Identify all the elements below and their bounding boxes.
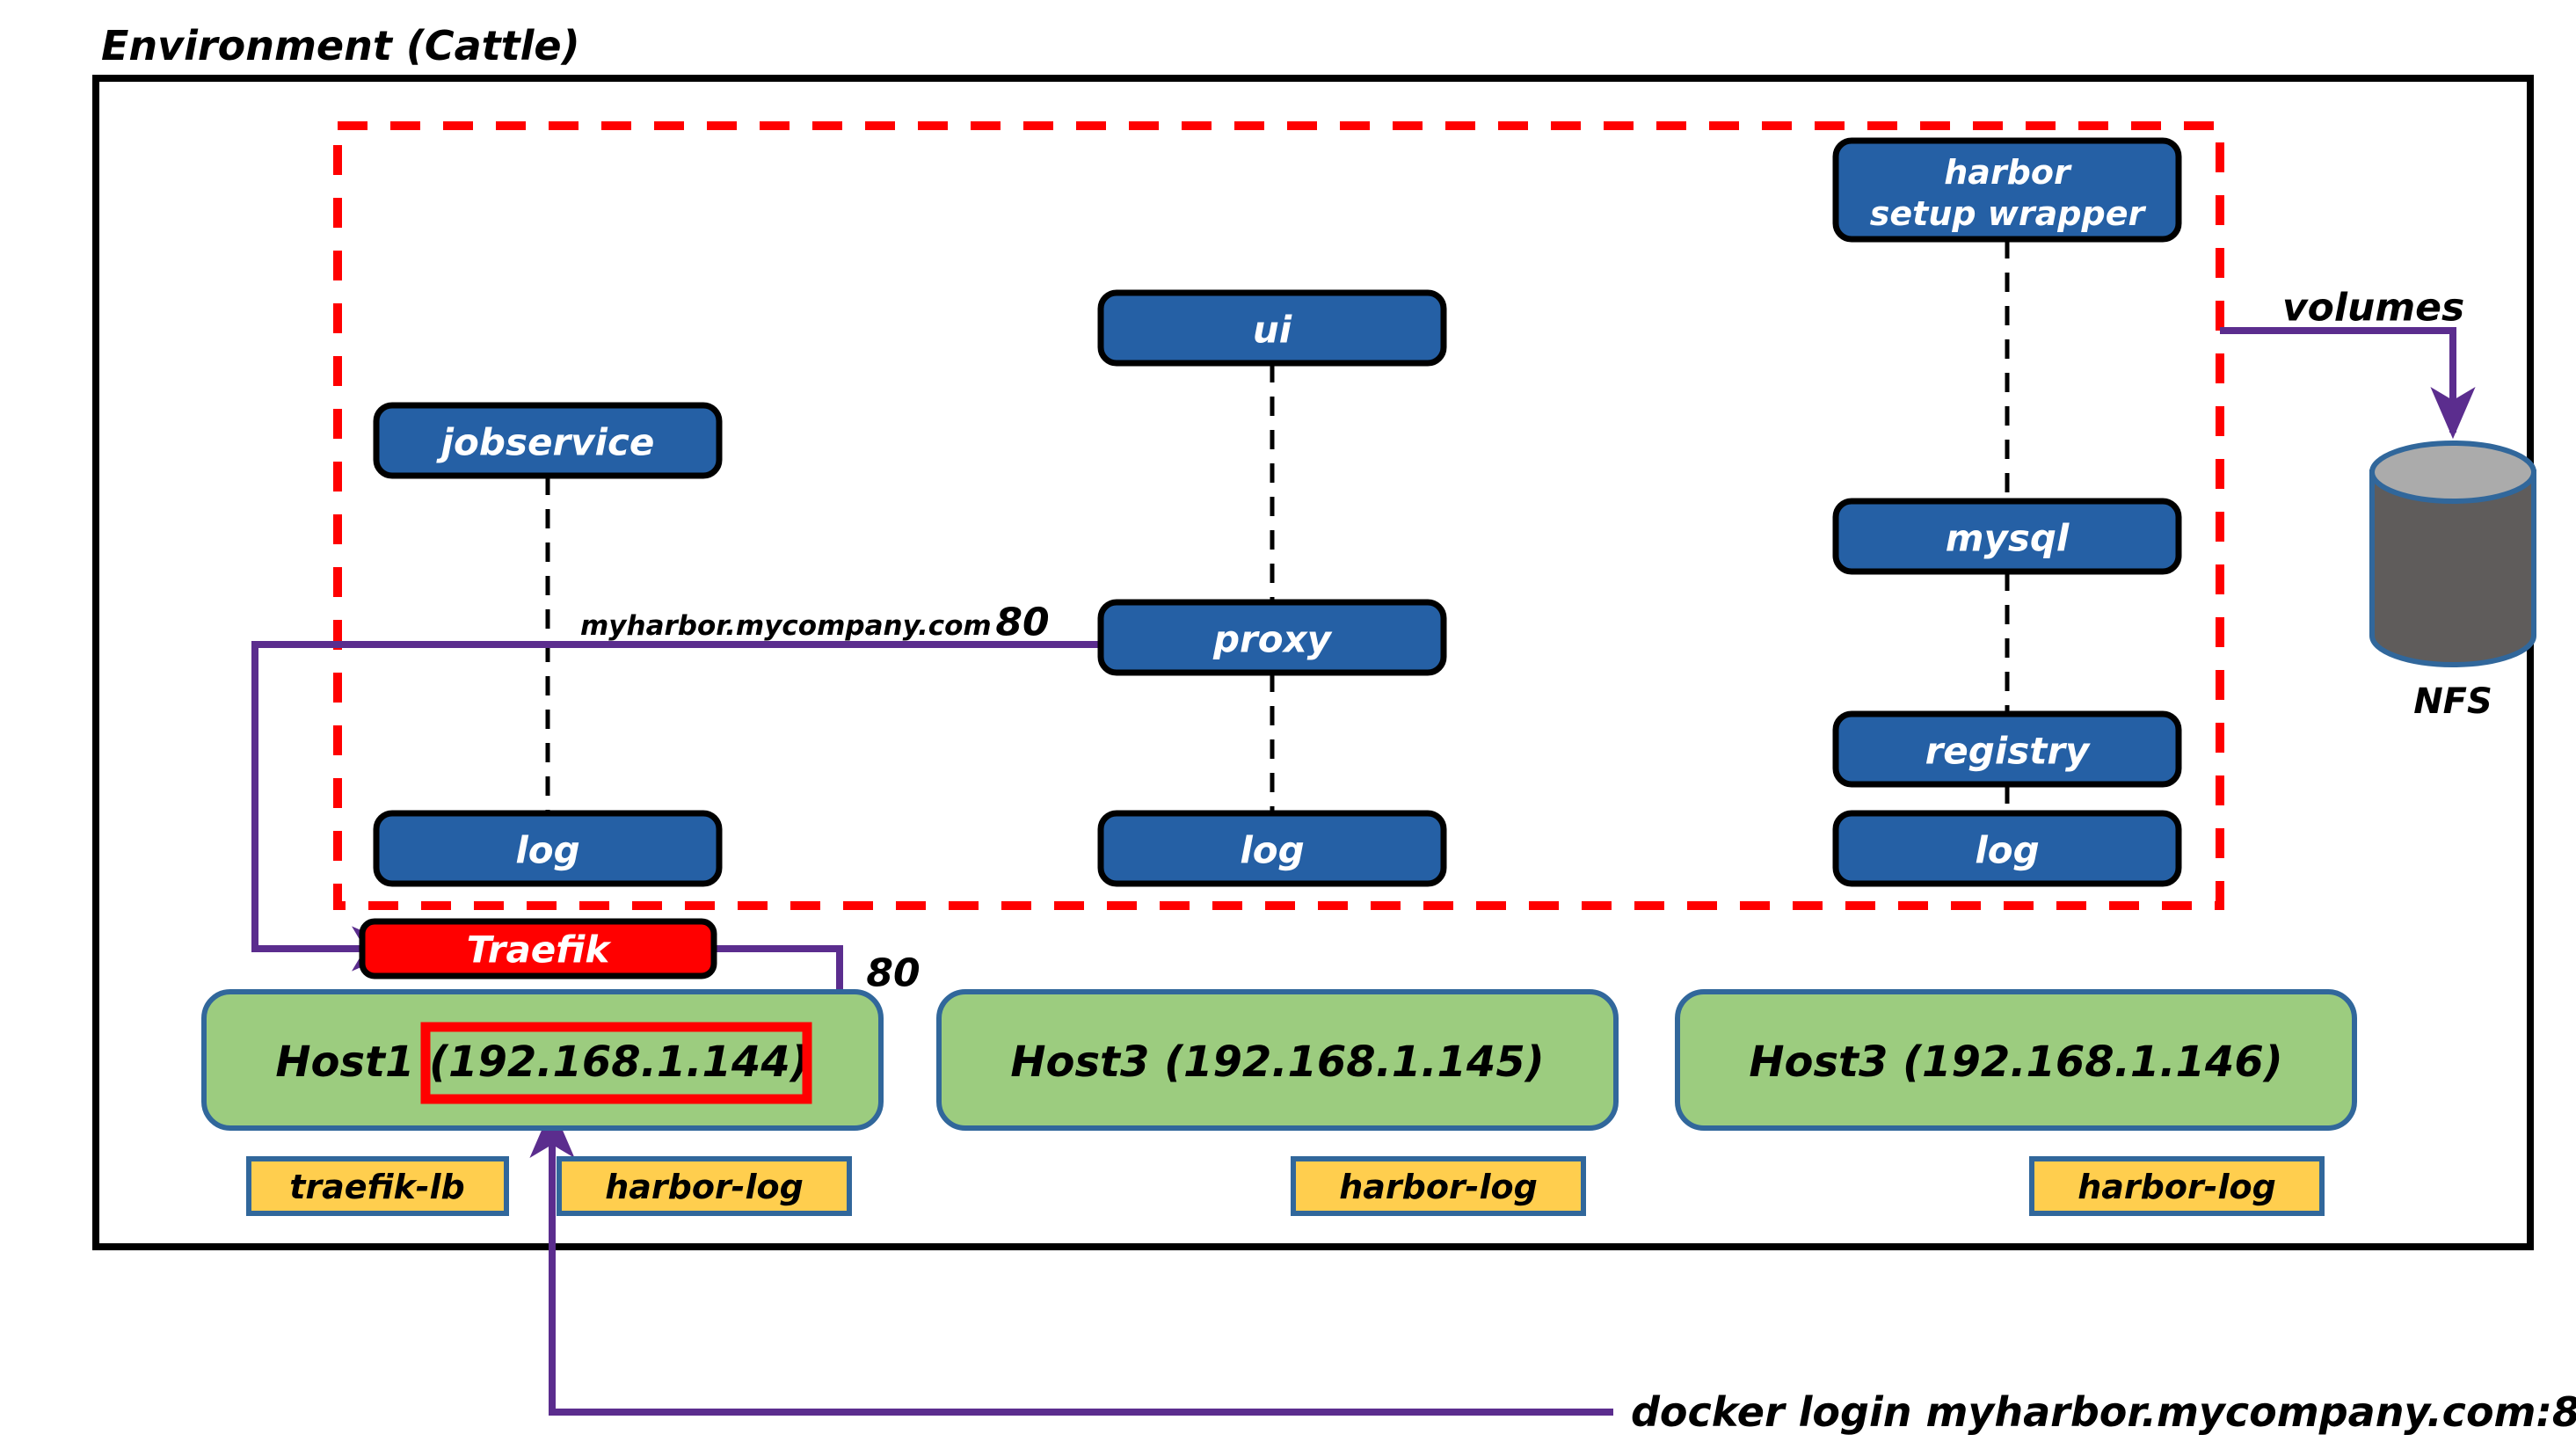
service-label-proxy: proxy	[1212, 618, 1333, 661]
traefik-load-balancer-node[interactable]: Traefik	[362, 921, 714, 976]
host2-tag-harbor-log[interactable]: harbor-log	[1293, 1159, 1583, 1213]
nfs-label: NFS	[2413, 681, 2492, 722]
service-label-registry-log: log	[1975, 829, 2039, 872]
host-label-host1: Host1 (192.168.1.144)	[275, 1038, 809, 1087]
service-label-mysql: mysql	[1946, 517, 2070, 560]
host-node-host2[interactable]: Host3 (192.168.1.145)	[939, 992, 1616, 1128]
host3-tag-label-harbor-log: harbor-log	[2078, 1168, 2276, 1206]
environment-title: Environment (Cattle)	[101, 22, 580, 69]
host1-tag-label-harbor-log: harbor-log	[605, 1168, 804, 1206]
flow-volumes-to-nfs	[2220, 331, 2453, 433]
service-label-jobservice-log: log	[515, 829, 579, 872]
service-label-harbor-setup-wrapper-line2: setup wrapper	[1870, 194, 2147, 233]
service-node-proxy[interactable]: proxy	[1101, 602, 1444, 673]
service-node-mysql[interactable]: mysql	[1836, 501, 2179, 572]
host3-tag-harbor-log[interactable]: harbor-log	[2032, 1159, 2322, 1213]
host-node-host3[interactable]: Host3 (192.168.1.146)	[1677, 992, 2354, 1128]
port-annotation-proxy: 80	[995, 601, 1049, 645]
service-node-registry-log[interactable]: log	[1836, 813, 2179, 884]
service-label-harbor-setup-wrapper-line1: harbor	[1944, 153, 2072, 192]
service-node-registry[interactable]: registry	[1836, 714, 2179, 784]
host2-tag-label-harbor-log: harbor-log	[1339, 1168, 1538, 1206]
service-node-jobservice[interactable]: jobservice	[376, 405, 719, 476]
host-node-host1[interactable]: Host1 (192.168.1.144)	[204, 992, 881, 1128]
host-label-host2: Host3 (192.168.1.145)	[1010, 1038, 1544, 1087]
traefik-label: Traefik	[467, 928, 613, 972]
diagram-canvas: NFS jobservice log ui proxy log	[0, 0, 2576, 1449]
service-node-proxy-log[interactable]: log	[1101, 813, 1444, 884]
service-label-jobservice: jobservice	[436, 421, 655, 464]
port-annotation-traefik: 80	[866, 951, 920, 996]
service-label-registry: registry	[1925, 730, 2091, 773]
host1-tag-harbor-log[interactable]: harbor-log	[559, 1159, 849, 1213]
host-label-host3: Host3 (192.168.1.146)	[1749, 1038, 2282, 1087]
service-node-harbor-setup-wrapper[interactable]: harbor setup wrapper	[1836, 141, 2179, 239]
docker-login-annotation: docker login myharbor.mycompany.com:80	[1631, 1388, 2576, 1436]
architecture-diagram-svg: NFS jobservice log ui proxy log	[0, 0, 2576, 1449]
volumes-annotation: volumes	[2282, 286, 2464, 331]
service-label-proxy-log: log	[1240, 829, 1304, 872]
host1-tag-traefik-lb[interactable]: traefik-lb	[249, 1159, 506, 1213]
nfs-storage-cylinder	[2372, 443, 2534, 665]
service-node-ui[interactable]: ui	[1101, 293, 1444, 363]
host1-tag-label-traefik-lb: traefik-lb	[289, 1168, 465, 1206]
hostname-annotation: myharbor.mycompany.com	[580, 610, 992, 642]
service-node-jobservice-log[interactable]: log	[376, 813, 719, 884]
service-label-ui: ui	[1253, 309, 1292, 352]
